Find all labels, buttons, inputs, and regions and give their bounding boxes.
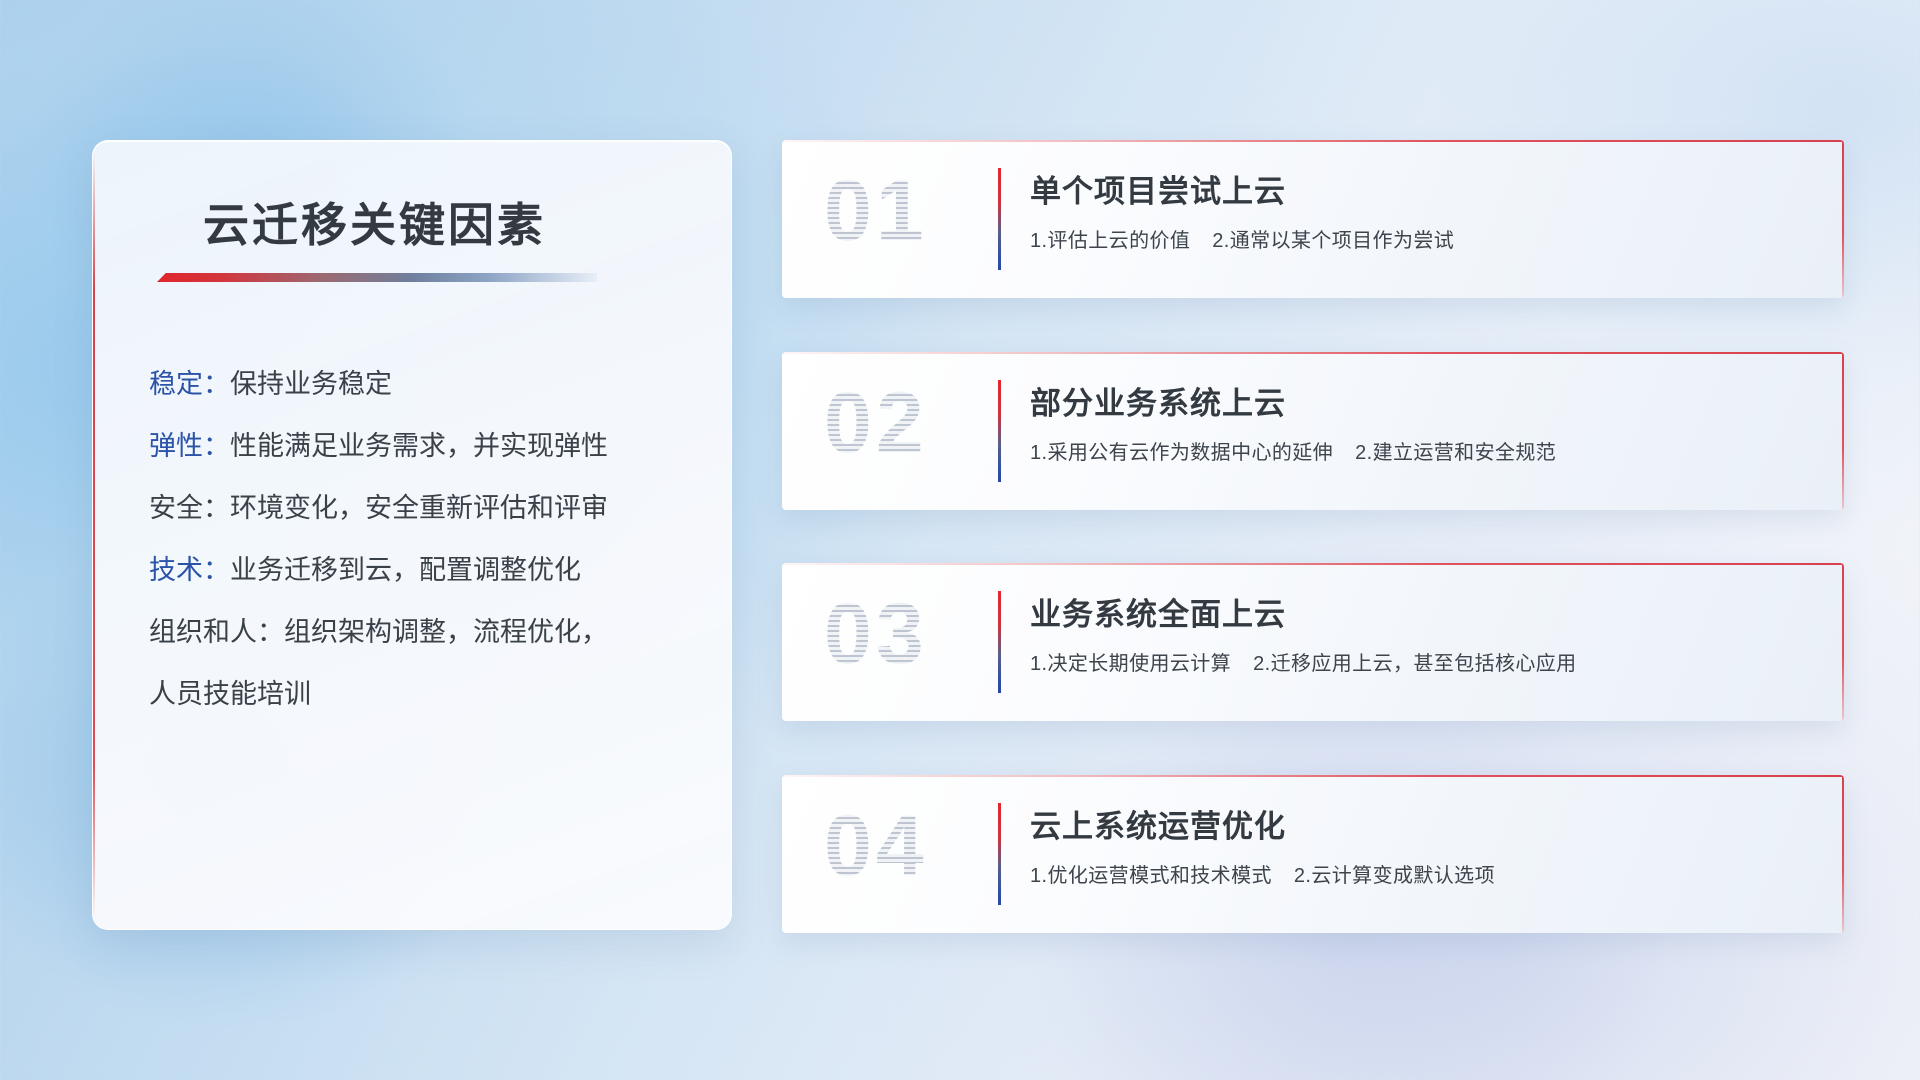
slide-canvas: 云迁移关键因素 稳定：保持业务稳定 弹性：性能满足业务需求，并实现弹性 安全：环… bbox=[0, 0, 1920, 1080]
stage-point-1: 1.采用公有云作为数据中心的延伸 bbox=[1030, 442, 1333, 464]
list-item-text: 保持业务稳定 bbox=[230, 369, 392, 399]
list-item-text: 性能满足业务需求，并实现弹性 bbox=[230, 431, 608, 461]
list-item-key: 组织和人： bbox=[149, 617, 284, 647]
list-item-text: 组织架构调整，流程优化， bbox=[284, 617, 608, 647]
stage-card-01[interactable]: 01 01 单个项目尝试上云 1.评估上云的价值2.通常以某个项目作为尝试 bbox=[782, 140, 1844, 298]
stage-point-1: 1.评估上云的价值 bbox=[1030, 230, 1190, 252]
stage-card-03[interactable]: 03 03 业务系统全面上云 1.决定长期使用云计算2.迁移应用上云，甚至包括核… bbox=[782, 563, 1844, 721]
stage-divider-bar bbox=[998, 803, 1001, 905]
stage-divider-bar bbox=[998, 380, 1001, 482]
key-factors-panel: 云迁移关键因素 稳定：保持业务稳定 弹性：性能满足业务需求，并实现弹性 安全：环… bbox=[92, 140, 732, 930]
stage-card-02[interactable]: 02 02 部分业务系统上云 1.采用公有云作为数据中心的延伸2.建立运营和安全… bbox=[782, 352, 1844, 510]
page-title: 云迁移关键因素 bbox=[203, 189, 546, 255]
list-item-text: 人员技能培训 bbox=[149, 679, 311, 709]
list-item-key: 稳定： bbox=[149, 369, 230, 399]
stage-title: 部分业务系统上云 bbox=[1030, 378, 1286, 423]
list-item: 技术：业务迁移到云，配置调整优化 bbox=[149, 539, 695, 601]
list-item-text: 环境变化，安全重新评估和评审 bbox=[230, 493, 608, 523]
stage-point-2: 2.通常以某个项目作为尝试 bbox=[1212, 230, 1454, 252]
stage-number: 02 bbox=[824, 374, 928, 473]
list-item: 弹性：性能满足业务需求，并实现弹性 bbox=[149, 415, 695, 477]
stage-point-2: 2.迁移应用上云，甚至包括核心应用 bbox=[1253, 653, 1576, 675]
stage-points: 1.评估上云的价值2.通常以某个项目作为尝试 bbox=[1030, 224, 1454, 253]
key-factors-list: 稳定：保持业务稳定 弹性：性能满足业务需求，并实现弹性 安全：环境变化，安全重新… bbox=[149, 353, 695, 725]
stage-point-1: 1.优化运营模式和技术模式 bbox=[1030, 865, 1272, 887]
stage-card-04[interactable]: 04 04 云上系统运营优化 1.优化运营模式和技术模式2.云计算变成默认选项 bbox=[782, 775, 1844, 933]
stage-points: 1.优化运营模式和技术模式2.云计算变成默认选项 bbox=[1030, 859, 1495, 888]
stage-divider-bar bbox=[998, 168, 1001, 270]
stage-number: 03 bbox=[824, 585, 928, 684]
stage-title: 云上系统运营优化 bbox=[1030, 801, 1286, 846]
stage-point-2: 2.云计算变成默认选项 bbox=[1294, 865, 1495, 887]
stage-title: 业务系统全面上云 bbox=[1030, 589, 1286, 634]
stage-points: 1.决定长期使用云计算2.迁移应用上云，甚至包括核心应用 bbox=[1030, 647, 1577, 676]
list-item: 安全：环境变化，安全重新评估和评审 bbox=[149, 477, 695, 539]
list-item: 人员技能培训 bbox=[149, 663, 695, 725]
stage-point-1: 1.决定长期使用云计算 bbox=[1030, 653, 1231, 675]
list-item-text: 业务迁移到云，配置调整优化 bbox=[230, 555, 581, 585]
stage-number: 04 bbox=[824, 797, 928, 896]
title-underline-bar bbox=[157, 273, 597, 282]
list-item: 组织和人：组织架构调整，流程优化， bbox=[149, 601, 695, 663]
stage-point-2: 2.建立运营和安全规范 bbox=[1355, 442, 1556, 464]
list-item-key: 弹性： bbox=[149, 431, 230, 461]
list-item: 稳定：保持业务稳定 bbox=[149, 353, 695, 415]
stage-title: 单个项目尝试上云 bbox=[1030, 166, 1286, 211]
stage-points: 1.采用公有云作为数据中心的延伸2.建立运营和安全规范 bbox=[1030, 436, 1556, 465]
list-item-key: 安全： bbox=[149, 493, 230, 523]
stage-number: 01 bbox=[824, 162, 928, 261]
stage-divider-bar bbox=[998, 591, 1001, 693]
list-item-key: 技术： bbox=[149, 555, 230, 585]
